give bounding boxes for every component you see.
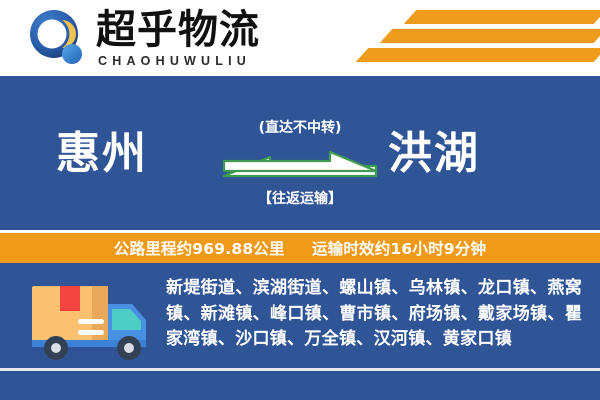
coverage-areas-text: 新堤街道、滨湖街道、螺山镇、乌林镇、龙口镇、燕窝镇、新滩镇、峰口镇、曹市镇、府场… (166, 276, 582, 353)
double-headed-arrow-icon (222, 143, 378, 185)
bottom-divider (0, 368, 600, 371)
stripe-3 (356, 48, 600, 62)
roundtrip-note: 【往返运输】 (0, 189, 600, 209)
distance-text: 公路里程约969.88公里 (114, 240, 285, 258)
circle-q-logo-icon (28, 9, 90, 67)
brand-name-en: CHAOHUWULIU (98, 53, 296, 69)
delivery-truck-icon (26, 278, 158, 364)
route-info-bar: 公路里程约969.88公里 运输时效约16小时9分钟 (0, 233, 600, 263)
stripe-2 (380, 29, 600, 43)
logistics-route-banner: 超乎物流 CHAOHUWULIU 惠州 洪湖 (直达不中转) 【往返运输】 公路… (0, 0, 600, 400)
banner-header: 超乎物流 CHAOHUWULIU (0, 0, 600, 76)
decorative-stripes (325, 8, 600, 70)
direct-service-note: (直达不中转) (0, 118, 600, 138)
stripe-1 (404, 10, 600, 24)
info-bar-text: 公路里程约969.88公里 运输时效约16小时9分钟 (114, 237, 486, 259)
duration-text: 运输时效约16小时9分钟 (312, 240, 486, 258)
brand-name-cn: 超乎物流 (96, 8, 296, 52)
brand-block: 超乎物流 CHAOHUWULIU (96, 8, 296, 69)
